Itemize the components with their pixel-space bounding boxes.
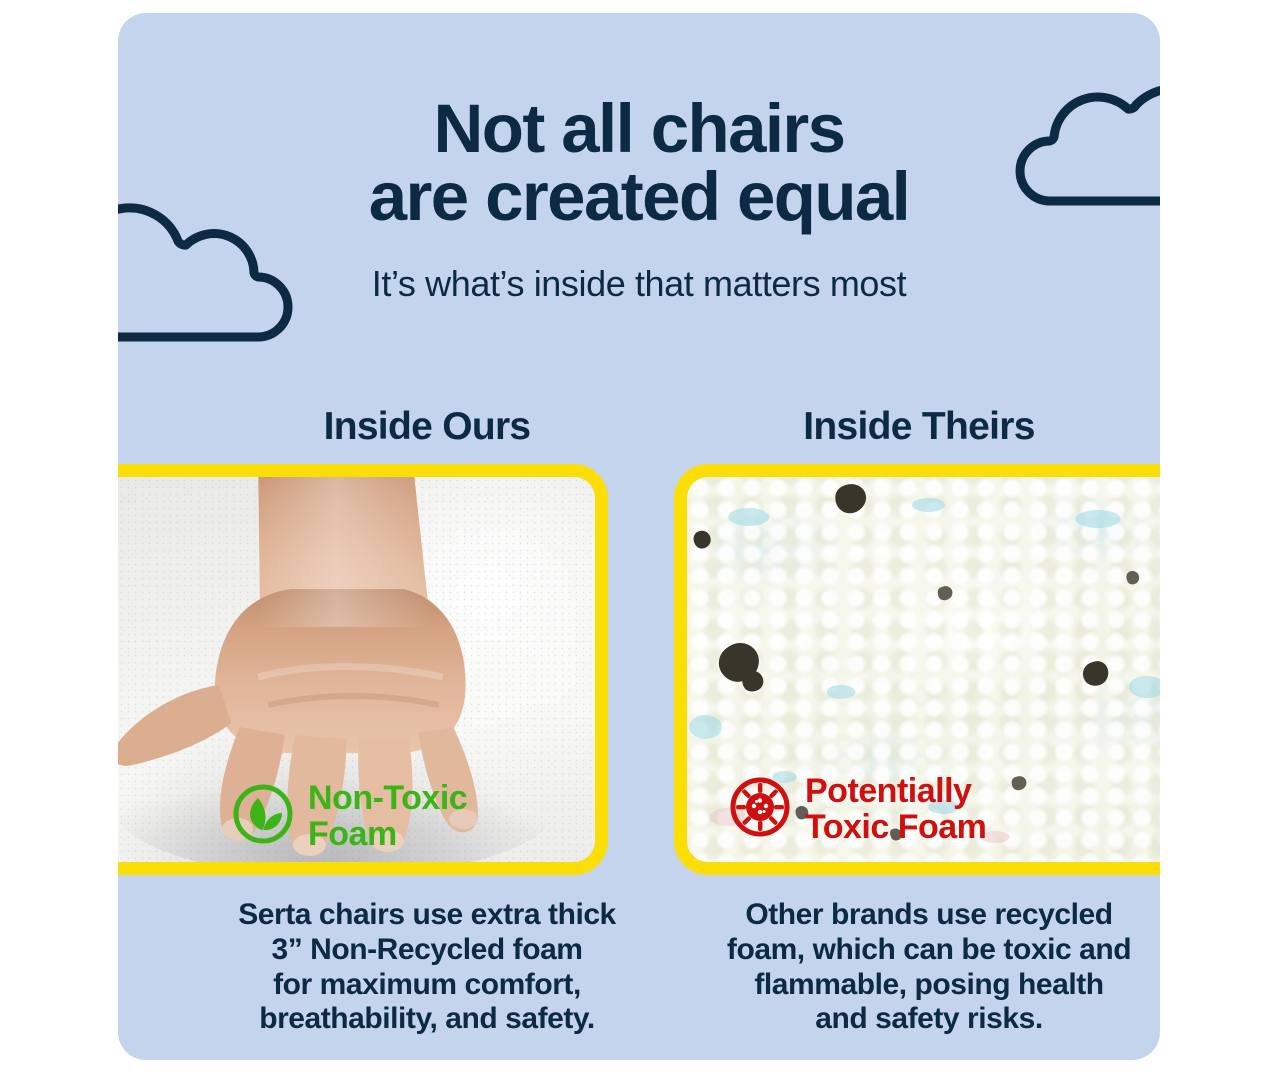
panel-inside-ours: Non-Toxic Foam [118, 464, 608, 875]
subtitle: It’s what’s inside that matters most [118, 263, 1160, 305]
headline-line-2: are created equal [118, 163, 1160, 231]
badge-non-toxic-foam: Non-Toxic Foam [232, 780, 467, 853]
headline-line-1: Not all chairs [118, 95, 1160, 163]
comparison-card: Not all chairs are created equal It’s wh… [118, 13, 1160, 1060]
column-title-ours: Inside Ours [182, 405, 672, 449]
badge-label-potentially-toxic: Potentially Toxic Foam [805, 773, 986, 846]
badge-potentially-toxic-foam: Potentially Toxic Foam [729, 773, 986, 846]
page-title: Not all chairs are created equal [118, 95, 1160, 232]
caption-ours: Serta chairs use extra thick 3” Non-Recy… [154, 898, 700, 1037]
virus-hazard-icon [729, 776, 791, 843]
badge-label-non-toxic: Non-Toxic Foam [308, 780, 467, 853]
column-title-theirs: Inside Theirs [674, 405, 1160, 449]
panel-inside-theirs: Potentially Toxic Foam [674, 464, 1160, 875]
leaf-icon [232, 783, 294, 850]
infographic-canvas: Not all chairs are created equal It’s wh… [0, 0, 1280, 1073]
caption-theirs: Other brands use recycled foam, which ca… [656, 898, 1160, 1037]
